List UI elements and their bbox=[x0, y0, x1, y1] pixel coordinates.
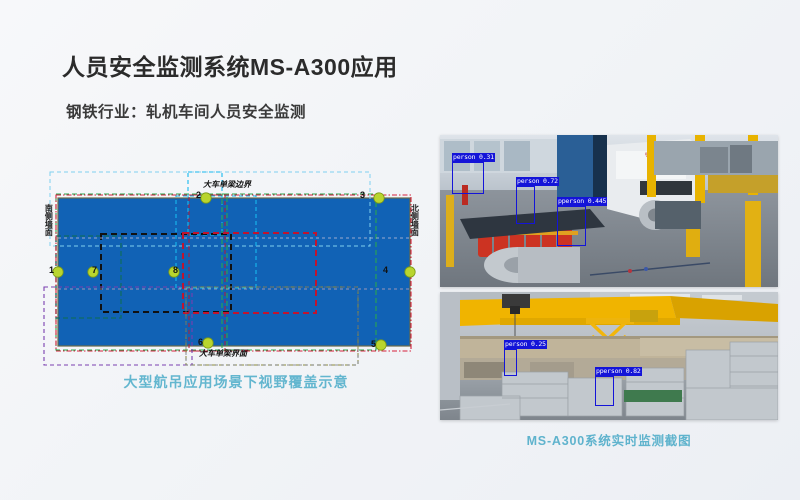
detection-label-person-2: person 0.72 bbox=[516, 177, 559, 186]
detection-box bbox=[504, 349, 517, 376]
camera-point-label-2: 2 bbox=[196, 190, 201, 200]
workshop-floor bbox=[58, 198, 410, 346]
camera-point-label-7: 7 bbox=[92, 265, 97, 275]
camera-point-label-8: 8 bbox=[173, 265, 178, 275]
page-subtitle: 钢铁行业：轧机车间人员安全监测 bbox=[66, 100, 306, 122]
camera-point-5 bbox=[376, 340, 386, 350]
label-bottom-boundary: 大车单梁界面 bbox=[199, 348, 247, 359]
photo-overhead-crane: person 0.25 pperson 0.82 bbox=[440, 292, 778, 420]
detection-label-person-3: pperson 0.445 bbox=[557, 197, 607, 206]
label-south-wall: 南侧墙面 bbox=[44, 204, 52, 236]
label-north-wall: 北侧墙面 bbox=[410, 204, 418, 236]
photo-rolling-mill: % PROS bbox=[440, 135, 778, 287]
photos-caption: MS-A300系统实时监测截图 bbox=[440, 430, 778, 449]
camera-point-label-5: 5 bbox=[371, 339, 376, 349]
camera-point-label-6: 6 bbox=[198, 337, 203, 347]
camera-point-6 bbox=[203, 338, 213, 348]
label-top-boundary: 大车单梁边界 bbox=[203, 179, 251, 190]
detection-label-person-1: person 0.25 bbox=[504, 340, 547, 349]
detection-box bbox=[595, 376, 614, 406]
detection-box bbox=[516, 186, 535, 224]
detection-label-person-2: pperson 0.82 bbox=[595, 367, 642, 376]
camera-point-3 bbox=[374, 193, 384, 203]
detection-box bbox=[452, 162, 484, 194]
camera-point-label-3: 3 bbox=[360, 190, 365, 200]
diagram-caption: 大型航吊应用场景下视野覆盖示意 bbox=[36, 372, 436, 392]
page-title: 人员安全监测系统MS-A300应用 bbox=[62, 48, 398, 82]
camera-point-2 bbox=[201, 193, 211, 203]
detection-label-person-1: person 0.31 bbox=[452, 153, 495, 162]
camera-point-label-4: 4 bbox=[383, 265, 388, 275]
camera-point-4 bbox=[405, 267, 415, 277]
slide-root: 人员安全监测系统MS-A300应用 钢铁行业：轧机车间人员安全监测 bbox=[0, 0, 800, 500]
camera-point-1 bbox=[53, 267, 63, 277]
camera-point-label-1: 1 bbox=[49, 265, 54, 275]
detection-box bbox=[557, 206, 586, 246]
